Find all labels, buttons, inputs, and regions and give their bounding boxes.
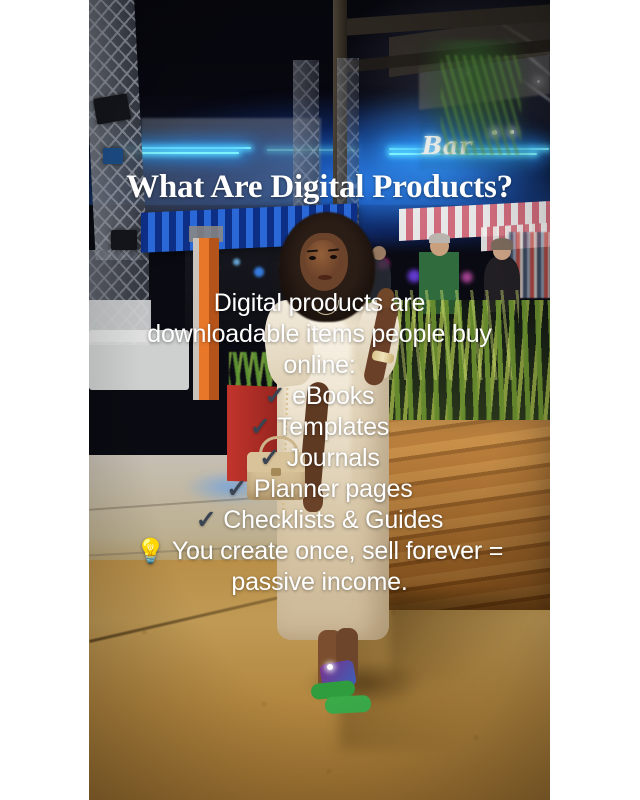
overlay-title: What Are Digital Products? — [89, 168, 550, 206]
lightbulb-icon: 💡 — [136, 538, 166, 565]
overlay-body: Digital products are downloadable items … — [95, 288, 544, 598]
check-icon: ✓ — [265, 382, 286, 410]
intro-line-3: online: — [95, 350, 544, 381]
checklist-item-4: ✓ Planner pages — [95, 474, 544, 505]
intro-line-2: downloadable items people buy — [95, 319, 544, 350]
checklist-item-1: ✓ eBooks — [95, 381, 544, 412]
check-icon: ✓ — [250, 413, 271, 441]
checklist-item-3: ✓ Journals — [95, 443, 544, 474]
screenshot-canvas: Bar — [0, 0, 640, 800]
closing-line-2: passive income. — [95, 567, 544, 598]
text-overlay: What Are Digital Products? Digital produ… — [89, 0, 550, 800]
intro-line-1: Digital products are — [95, 288, 544, 319]
checklist-item-2: ✓ Templates — [95, 412, 544, 443]
checklist-item-5: ✓ Checklists & Guides — [95, 505, 544, 536]
checklist-label-3: Journals — [287, 444, 380, 472]
closing-line-1: 💡 You create once, sell forever = — [95, 536, 544, 567]
check-icon: ✓ — [196, 506, 217, 534]
checklist-label-1: eBooks — [292, 382, 374, 410]
check-icon: ✓ — [226, 475, 247, 503]
closing-text-1: You create once, sell forever = — [172, 537, 503, 565]
checklist-label-5: Checklists & Guides — [223, 506, 443, 534]
video-frame[interactable]: Bar — [89, 0, 550, 800]
checklist-label-4: Planner pages — [254, 475, 413, 503]
checklist-label-2: Templates — [277, 413, 389, 441]
check-icon: ✓ — [259, 444, 280, 472]
